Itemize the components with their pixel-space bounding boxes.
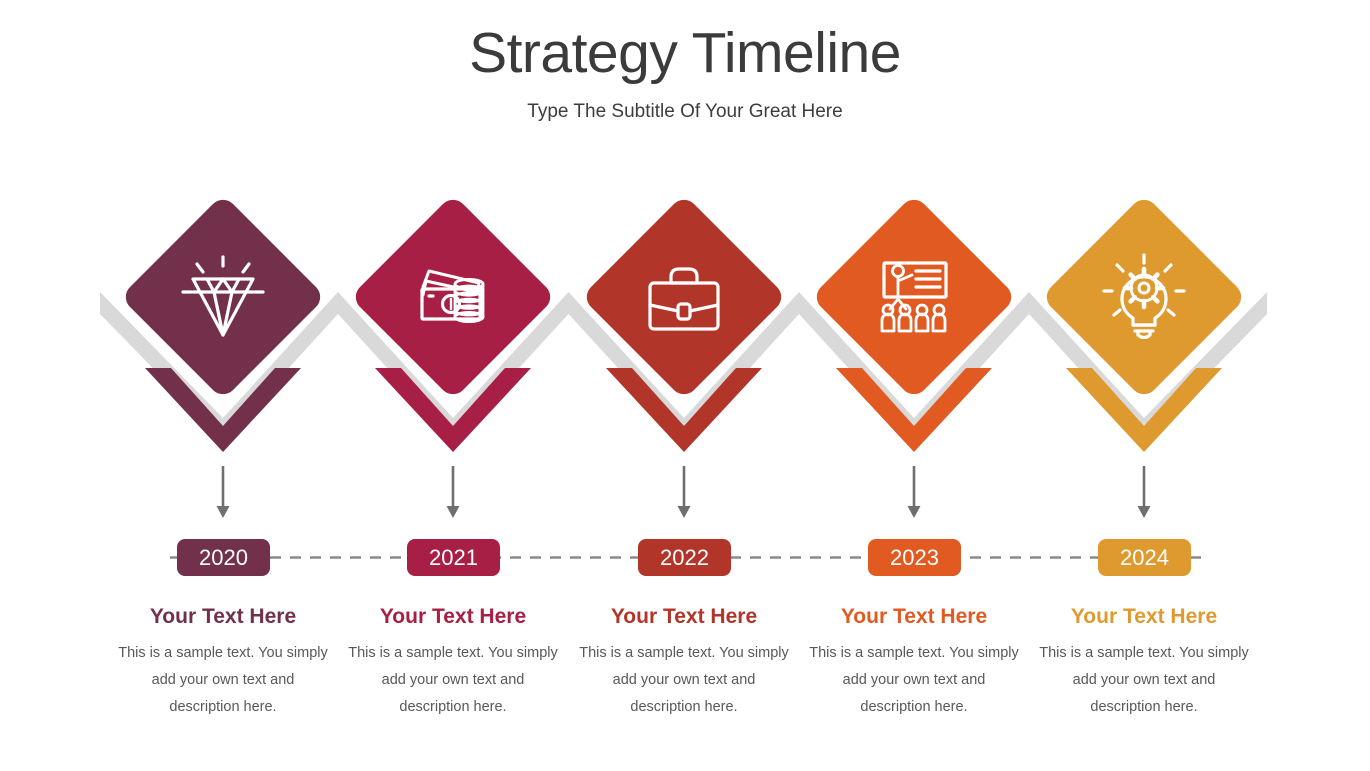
slide-canvas: Strategy Timeline Type The Subtitle Of Y… <box>0 0 1370 771</box>
column-heading: Your Text Here <box>116 604 330 630</box>
down-arrow-2022 <box>678 466 691 518</box>
year-badge-2024[interactable]: 2024 <box>1098 539 1191 576</box>
column-heading: Your Text Here <box>1037 604 1251 630</box>
down-arrow-2024 <box>1138 466 1151 518</box>
column-heading: Your Text Here <box>807 604 1021 630</box>
column-body-text: This is a sample text. You simply add yo… <box>1037 640 1251 721</box>
text-column-2024: Your Text HereThis is a sample text. You… <box>1037 604 1251 721</box>
column-heading: Your Text Here <box>346 604 560 630</box>
text-column-2022: Your Text HereThis is a sample text. You… <box>577 604 791 721</box>
year-badge-2022[interactable]: 2022 <box>638 539 731 576</box>
text-column-2020: Your Text HereThis is a sample text. You… <box>116 604 330 721</box>
year-badge-2021[interactable]: 2021 <box>407 539 500 576</box>
year-badge-2023[interactable]: 2023 <box>868 539 961 576</box>
column-body-text: This is a sample text. You simply add yo… <box>577 640 791 721</box>
column-body-text: This is a sample text. You simply add yo… <box>346 640 560 721</box>
text-column-2023: Your Text HereThis is a sample text. You… <box>807 604 1021 721</box>
column-body-text: This is a sample text. You simply add yo… <box>807 640 1021 721</box>
column-heading: Your Text Here <box>577 604 791 630</box>
year-badge-2020[interactable]: 2020 <box>177 539 270 576</box>
down-arrow-2020 <box>217 466 230 518</box>
text-column-2021: Your Text HereThis is a sample text. You… <box>346 604 560 721</box>
column-body-text: This is a sample text. You simply add yo… <box>116 640 330 721</box>
down-arrow-2021 <box>447 466 460 518</box>
down-arrow-2023 <box>908 466 921 518</box>
